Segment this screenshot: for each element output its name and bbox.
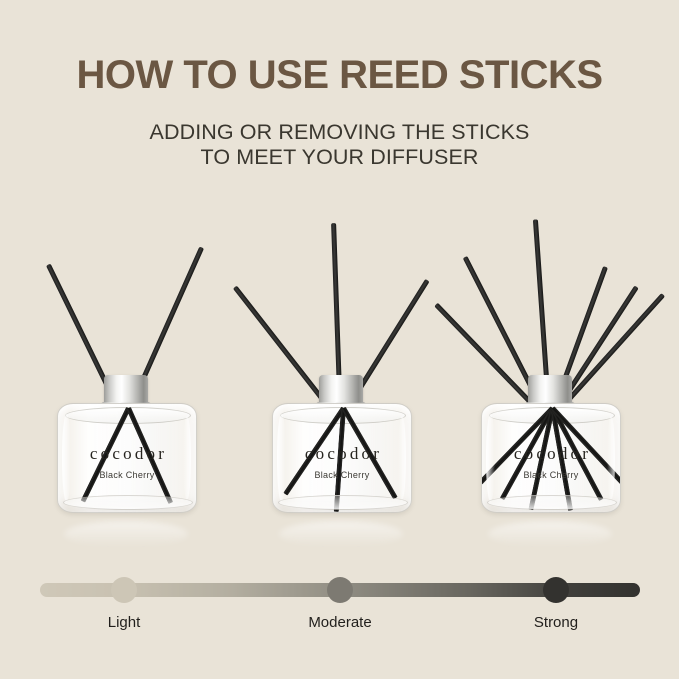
slider-dot-moderate[interactable] [327,577,353,603]
glass-bottom-rim [63,495,193,510]
bottle-glass: cocodor Black Cherry [272,403,412,513]
bottle-reflection [279,521,403,547]
glass-bottom-rim [278,495,408,510]
diffuser-light: cocodor Black Cherry [28,215,224,555]
scent-label: Black Cherry [58,470,196,480]
slider-label-moderate: Moderate [270,614,410,631]
bottle-reflection [488,521,612,547]
scent-label: Black Cherry [482,470,620,480]
diffuser-bottle: cocodor Black Cherry [272,403,410,521]
glass-bottom-rim [487,495,617,510]
diffuser-moderate: cocodor Black Cherry [243,215,439,555]
slider-dot-strong[interactable] [543,577,569,603]
brand-label: cocodor [273,444,411,464]
brand-label: cocodor [482,444,620,464]
bottle-glass: cocodor Black Cherry [57,403,197,513]
slider-label-strong: Strong [486,614,626,631]
bottle-glass: cocodor Black Cherry [481,403,621,513]
brand-label: cocodor [58,444,196,464]
slider-dot-light[interactable] [111,577,137,603]
scent-label: Black Cherry [273,470,411,480]
diffuser-bottle: cocodor Black Cherry [57,403,195,521]
bottle-reflection [64,521,188,547]
diffuser-bottle: cocodor Black Cherry [481,403,619,521]
intensity-slider[interactable]: Light Moderate Strong [40,583,640,597]
slider-label-light: Light [54,614,194,631]
diffuser-strong: cocodor Black Cherry [452,215,648,555]
reed-stick-infographic: HOW TO USE REED STICKS ADDING OR REMOVIN… [0,0,679,679]
